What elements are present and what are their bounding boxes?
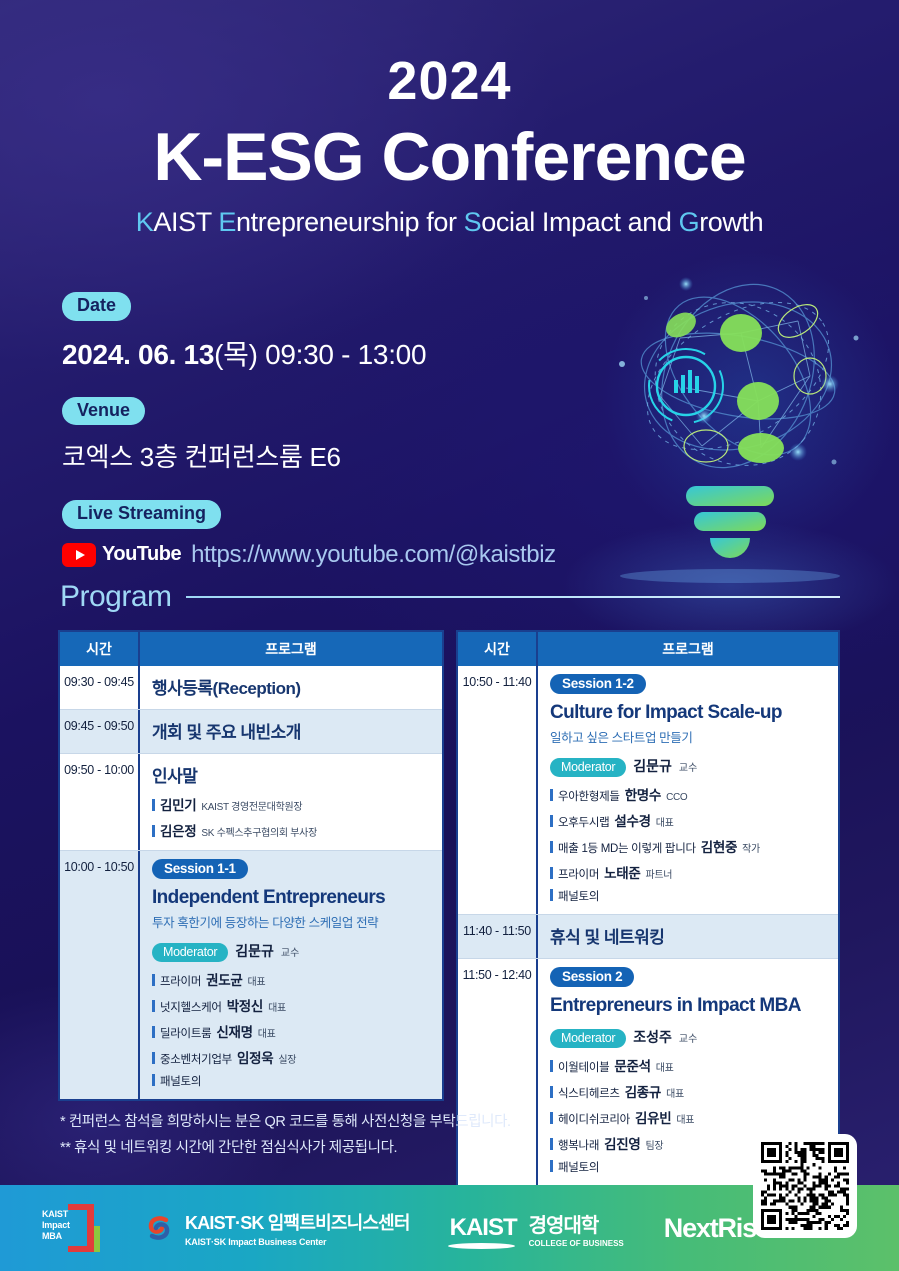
- speaker-org: 매출 1등 MD는 이렇게 팝니다: [558, 840, 696, 856]
- sk-center-text: KAIST·SK 임팩트비즈니스센터 KAIST·SK Impact Busin…: [185, 1209, 410, 1247]
- youtube-logo: YouTube: [62, 543, 181, 567]
- speaker-org: 헤이디쉬코리아: [558, 1111, 630, 1127]
- speaker-org: 넛지헬스케어: [160, 999, 222, 1015]
- date-value-day: (목): [214, 339, 258, 370]
- speaker-list: 프라이머권도균대표넛지헬스케어박정신대표딜라이트룸신재명대표중소벤처기업부임정욱…: [152, 969, 432, 1089]
- table-row: 09:45 - 09:50개회 및 주요 내빈소개: [60, 709, 442, 753]
- speaker-item: 오후두시랩설수경대표: [550, 810, 828, 830]
- speaker-bullet-icon: [152, 1074, 155, 1086]
- row-title: 휴식 및 네트워킹: [550, 923, 828, 948]
- conference-title: K-ESG Conference: [0, 122, 899, 193]
- speaker-org: 패널토의: [558, 1159, 599, 1175]
- speaker-item: 우아한형제들한명수CCO: [550, 784, 828, 804]
- logo-impact-line3: MBA: [42, 1231, 70, 1242]
- subtitle-part-5: ocial: [481, 207, 542, 237]
- speaker-item: 패널토의: [550, 888, 828, 904]
- youtube-wordmark: YouTube: [102, 543, 181, 566]
- speaker-item: 넛지헬스케어박정신대표: [152, 995, 432, 1015]
- speaker-item: 이월테이블문준석대표: [550, 1055, 828, 1075]
- row-program: Session 1-2Culture for Impact Scale-up일하…: [538, 666, 838, 914]
- speaker-role: 대표: [258, 1025, 276, 1040]
- program-table-left: 시간 프로그램 09:30 - 09:45행사등록(Reception)09:4…: [58, 630, 444, 1101]
- table-body: 09:30 - 09:45행사등록(Reception)09:45 - 09:5…: [60, 666, 442, 1099]
- moderator-name: 조성주: [633, 1027, 672, 1047]
- row-title: 개회 및 주요 내빈소개: [152, 718, 432, 743]
- speaker-name: 김은정: [160, 820, 196, 840]
- speaker-role: KAIST 경영전문대학원장: [201, 798, 302, 813]
- speaker-name: 권도균: [206, 969, 242, 989]
- speaker-name: 김진영: [604, 1133, 640, 1153]
- moderator-role: 교수: [679, 759, 697, 774]
- table-row: 10:50 - 11:40Session 1-2Culture for Impa…: [458, 666, 838, 914]
- poster-header: 2024 K-ESG Conference KAIST Entrepreneur…: [0, 54, 899, 238]
- date-value: 2024. 06. 13(목) 09:30 - 13:00: [62, 333, 556, 373]
- college-name-ko: 경영대학: [529, 1209, 624, 1238]
- subtitle-part-0: K: [136, 207, 154, 237]
- speaker-name: 임정욱: [237, 1047, 273, 1067]
- speaker-role: 대표: [666, 1085, 684, 1100]
- speaker-bullet-icon: [152, 799, 155, 811]
- row-program: Session 1-1Independent Entrepreneurs투자 혹…: [140, 851, 442, 1099]
- row-program: 개회 및 주요 내빈소개: [140, 710, 442, 753]
- kaist-swoosh-icon: [448, 1243, 515, 1249]
- subtitle-part-4: S: [464, 207, 482, 237]
- speaker-org: 프라이머: [160, 973, 201, 989]
- footnote-1: * 컨퍼런스 참석을 희망하시는 분은 QR 코드를 통해 사전신청을 부탁드립…: [60, 1110, 511, 1131]
- speaker-org: 프라이머: [558, 866, 599, 882]
- column-header-program: 프로그램: [140, 632, 442, 666]
- speaker-role: 대표: [268, 999, 286, 1014]
- moderator-name: 김문규: [235, 941, 274, 961]
- subtitle-part-3: ntrepreneurship for: [236, 207, 464, 237]
- row-time: 11:40 - 11:50: [458, 915, 538, 958]
- speaker-role: 대표: [676, 1111, 694, 1126]
- subtitle-part-2: E: [218, 207, 236, 237]
- logo-impact-line1: KAIST: [42, 1209, 70, 1220]
- program-heading-label: Program: [60, 580, 172, 614]
- speaker-name: 한명수: [625, 784, 661, 804]
- speaker-item: 매출 1등 MD는 이렇게 팝니다김현중작가: [550, 836, 828, 856]
- moderator-badge: Moderator: [550, 1029, 626, 1048]
- moderator-role: 교수: [281, 944, 299, 959]
- session-title: Entrepreneurs in Impact MBA: [550, 995, 828, 1017]
- event-info: Date 2024. 06. 13(목) 09:30 - 13:00 Venue…: [62, 292, 556, 569]
- moderator-name: 김문규: [633, 756, 672, 776]
- speaker-list: 김민기KAIST 경영전문대학원장김은정SK 수펙스추구협의회 부사장: [152, 794, 432, 840]
- speaker-role: 파트너: [646, 866, 673, 881]
- table-row: 11:40 - 11:50휴식 및 네트워킹: [458, 914, 838, 958]
- date-value-time: 09:30 - 13:00: [265, 339, 426, 370]
- session-badge: Session 1-2: [550, 674, 646, 694]
- speaker-bullet-icon: [550, 1138, 553, 1150]
- speaker-bullet-icon: [550, 1112, 553, 1124]
- network-globe-graphic: [598, 276, 888, 606]
- logo-kaist-impact-mba: KAIST Impact MBA: [40, 1204, 102, 1252]
- program-heading: Program: [60, 580, 840, 614]
- speaker-item: 중소벤처기업부임정욱실장: [152, 1047, 432, 1067]
- kaist-wordmark-text: KAIST: [450, 1214, 517, 1241]
- speaker-org: 이월테이블: [558, 1059, 609, 1075]
- session-badge: Session 1-1: [152, 859, 248, 879]
- column-header-time: 시간: [458, 632, 538, 666]
- sk-swirl-icon: [142, 1211, 176, 1245]
- subtitle-part-8: G: [679, 207, 700, 237]
- table-header-row: 시간 프로그램: [60, 632, 442, 666]
- subtitle-part-6: I: [542, 207, 549, 237]
- college-name-en: COLLEGE OF BUSINESS: [529, 1239, 624, 1248]
- speaker-bullet-icon: [152, 1026, 155, 1038]
- table-row: 10:00 - 10:50Session 1-1Independent Entr…: [60, 850, 442, 1099]
- qr-code[interactable]: [753, 1134, 857, 1238]
- date-label-pill: Date: [62, 292, 131, 321]
- program-heading-rule: [186, 596, 840, 598]
- session-subtitle: 투자 혹한기에 등장하는 다양한 스케일업 전략: [152, 912, 432, 931]
- row-time: 10:50 - 11:40: [458, 666, 538, 914]
- speaker-role: 대표: [656, 814, 674, 829]
- session-badge: Session 2: [550, 967, 634, 987]
- speaker-bullet-icon: [550, 815, 553, 827]
- speaker-org: 행복나래: [558, 1137, 599, 1153]
- speaker-item: 헤이디쉬코리아김유빈대표: [550, 1107, 828, 1127]
- speaker-item: 식스티헤르츠김종규대표: [550, 1081, 828, 1101]
- speaker-org: 오후두시랩: [558, 814, 609, 830]
- speaker-role: 대표: [248, 973, 266, 988]
- session-subtitle: 일하고 싶은 스타트업 만들기: [550, 727, 828, 746]
- logo-kaist-college-of-business: KAIST 경영대학 COLLEGE OF BUSINESS: [450, 1209, 624, 1248]
- speaker-org: 패널토의: [160, 1073, 201, 1089]
- speaker-name: 설수경: [614, 810, 650, 830]
- moderator-row: Moderator김문규교수: [152, 941, 432, 962]
- footnotes: * 컨퍼런스 참석을 희망하시는 분은 QR 코드를 통해 사전신청을 부탁드립…: [60, 1110, 511, 1162]
- moderator-row: Moderator조성주교수: [550, 1027, 828, 1048]
- table-row: 09:50 - 10:00인사말김민기KAIST 경영전문대학원장김은정SK 수…: [60, 753, 442, 850]
- table-row: 09:30 - 09:45행사등록(Reception): [60, 666, 442, 709]
- venue-label-wrap: Venue: [62, 397, 556, 426]
- moderator-badge: Moderator: [550, 758, 626, 777]
- subtitle-part-9: rowth: [699, 207, 763, 237]
- speaker-name: 김현중: [701, 836, 737, 856]
- speaker-list: 우아한형제들한명수CCO오후두시랩설수경대표매출 1등 MD는 이렇게 팝니다김…: [550, 784, 828, 904]
- live-streaming-label-pill: Live Streaming: [62, 500, 221, 529]
- youtube-url-link[interactable]: https://www.youtube.com/@kaistbiz: [191, 541, 556, 569]
- speaker-bullet-icon: [550, 789, 553, 801]
- table-header-row: 시간 프로그램: [458, 632, 838, 666]
- year-text: 2024: [0, 54, 899, 108]
- sk-center-name-ko: KAIST·SK 임팩트비즈니스센터: [185, 1209, 410, 1235]
- date-value-date: 2024. 06. 13: [62, 339, 214, 370]
- speaker-bullet-icon: [550, 841, 553, 853]
- session-title: Culture for Impact Scale-up: [550, 702, 828, 724]
- row-time: 10:00 - 10:50: [60, 851, 140, 1099]
- subtitle-part-7: mpact and: [549, 207, 679, 237]
- column-header-time: 시간: [60, 632, 140, 666]
- speaker-role: 작가: [742, 840, 760, 855]
- speaker-bullet-icon: [550, 1160, 553, 1172]
- speaker-item: 김은정SK 수펙스추구협의회 부사장: [152, 820, 432, 840]
- speaker-bullet-icon: [152, 825, 155, 837]
- row-title: 인사말: [152, 762, 432, 787]
- speaker-name: 문준석: [614, 1055, 650, 1075]
- college-text: 경영대학 COLLEGE OF BUSINESS: [529, 1209, 624, 1248]
- speaker-org: 중소벤처기업부: [160, 1051, 232, 1067]
- row-time: 09:30 - 09:45: [60, 666, 140, 709]
- speaker-item: 프라이머노태준파트너: [550, 862, 828, 882]
- speaker-name: 김종규: [625, 1081, 661, 1101]
- youtube-play-icon: [62, 543, 96, 567]
- speaker-name: 김민기: [160, 794, 196, 814]
- row-program: 행사등록(Reception): [140, 666, 442, 709]
- footnote-2: ** 휴식 및 네트워킹 시간에 간단한 점심식사가 제공됩니다.: [60, 1136, 511, 1157]
- speaker-bullet-icon: [550, 1060, 553, 1072]
- youtube-line[interactable]: YouTube https://www.youtube.com/@kaistbi…: [62, 541, 556, 569]
- kaist-wordmark: KAIST: [450, 1214, 517, 1242]
- speaker-bullet-icon: [152, 1000, 155, 1012]
- moderator-badge: Moderator: [152, 943, 228, 962]
- speaker-bullet-icon: [152, 1052, 155, 1064]
- speaker-bullet-icon: [550, 889, 553, 901]
- moderator-role: 교수: [679, 1030, 697, 1045]
- logo-impact-line2: Impact: [42, 1220, 70, 1231]
- speaker-item: 패널토의: [152, 1073, 432, 1089]
- row-program: 인사말김민기KAIST 경영전문대학원장김은정SK 수펙스추구협의회 부사장: [140, 754, 442, 850]
- live-label-wrap: Live Streaming: [62, 500, 556, 529]
- row-time: 09:45 - 09:50: [60, 710, 140, 753]
- speaker-name: 박정신: [227, 995, 263, 1015]
- speaker-bullet-icon: [152, 974, 155, 986]
- row-program: 휴식 및 네트워킹: [538, 915, 838, 958]
- speaker-item: 김민기KAIST 경영전문대학원장: [152, 794, 432, 814]
- venue-value: 코엑스 3층 컨퍼런스룸 E6: [62, 437, 556, 474]
- speaker-item: 프라이머권도균대표: [152, 969, 432, 989]
- speaker-role: 팀장: [646, 1137, 664, 1152]
- sk-center-name-en: KAIST·SK Impact Business Center: [185, 1237, 410, 1247]
- speaker-bullet-icon: [550, 1086, 553, 1098]
- speaker-role: 대표: [656, 1059, 674, 1074]
- speaker-org: 딜라이트룸: [160, 1025, 211, 1041]
- column-header-program: 프로그램: [538, 632, 838, 666]
- speaker-role: CCO: [666, 792, 687, 803]
- moderator-row: Moderator김문규교수: [550, 756, 828, 777]
- speaker-item: 딜라이트룸신재명대표: [152, 1021, 432, 1041]
- speaker-name: 신재명: [216, 1021, 252, 1041]
- speaker-name: 노태준: [604, 862, 640, 882]
- speaker-bullet-icon: [550, 867, 553, 879]
- qr-code-image: [761, 1142, 849, 1230]
- row-title: 행사등록(Reception): [152, 674, 432, 699]
- speaker-name: 김유빈: [635, 1107, 671, 1127]
- speaker-role: 실장: [278, 1051, 296, 1066]
- subtitle-part-1: AIST: [153, 207, 218, 237]
- speaker-org: 패널토의: [558, 888, 599, 904]
- speaker-org: 식스티헤르츠: [558, 1085, 620, 1101]
- conference-subtitle: KAIST Entrepreneurship for Social Impact…: [0, 207, 899, 238]
- logo-kaist-sk-impact-business-center: KAIST·SK 임팩트비즈니스센터 KAIST·SK Impact Busin…: [142, 1209, 410, 1247]
- venue-label-pill: Venue: [62, 397, 145, 426]
- session-title: Independent Entrepreneurs: [152, 887, 432, 909]
- speaker-role: SK 수펙스추구협의회 부사장: [201, 824, 317, 839]
- speaker-org: 우아한형제들: [558, 788, 620, 804]
- poster-root: 2024 K-ESG Conference KAIST Entrepreneur…: [0, 0, 899, 1271]
- row-time: 09:50 - 10:00: [60, 754, 140, 850]
